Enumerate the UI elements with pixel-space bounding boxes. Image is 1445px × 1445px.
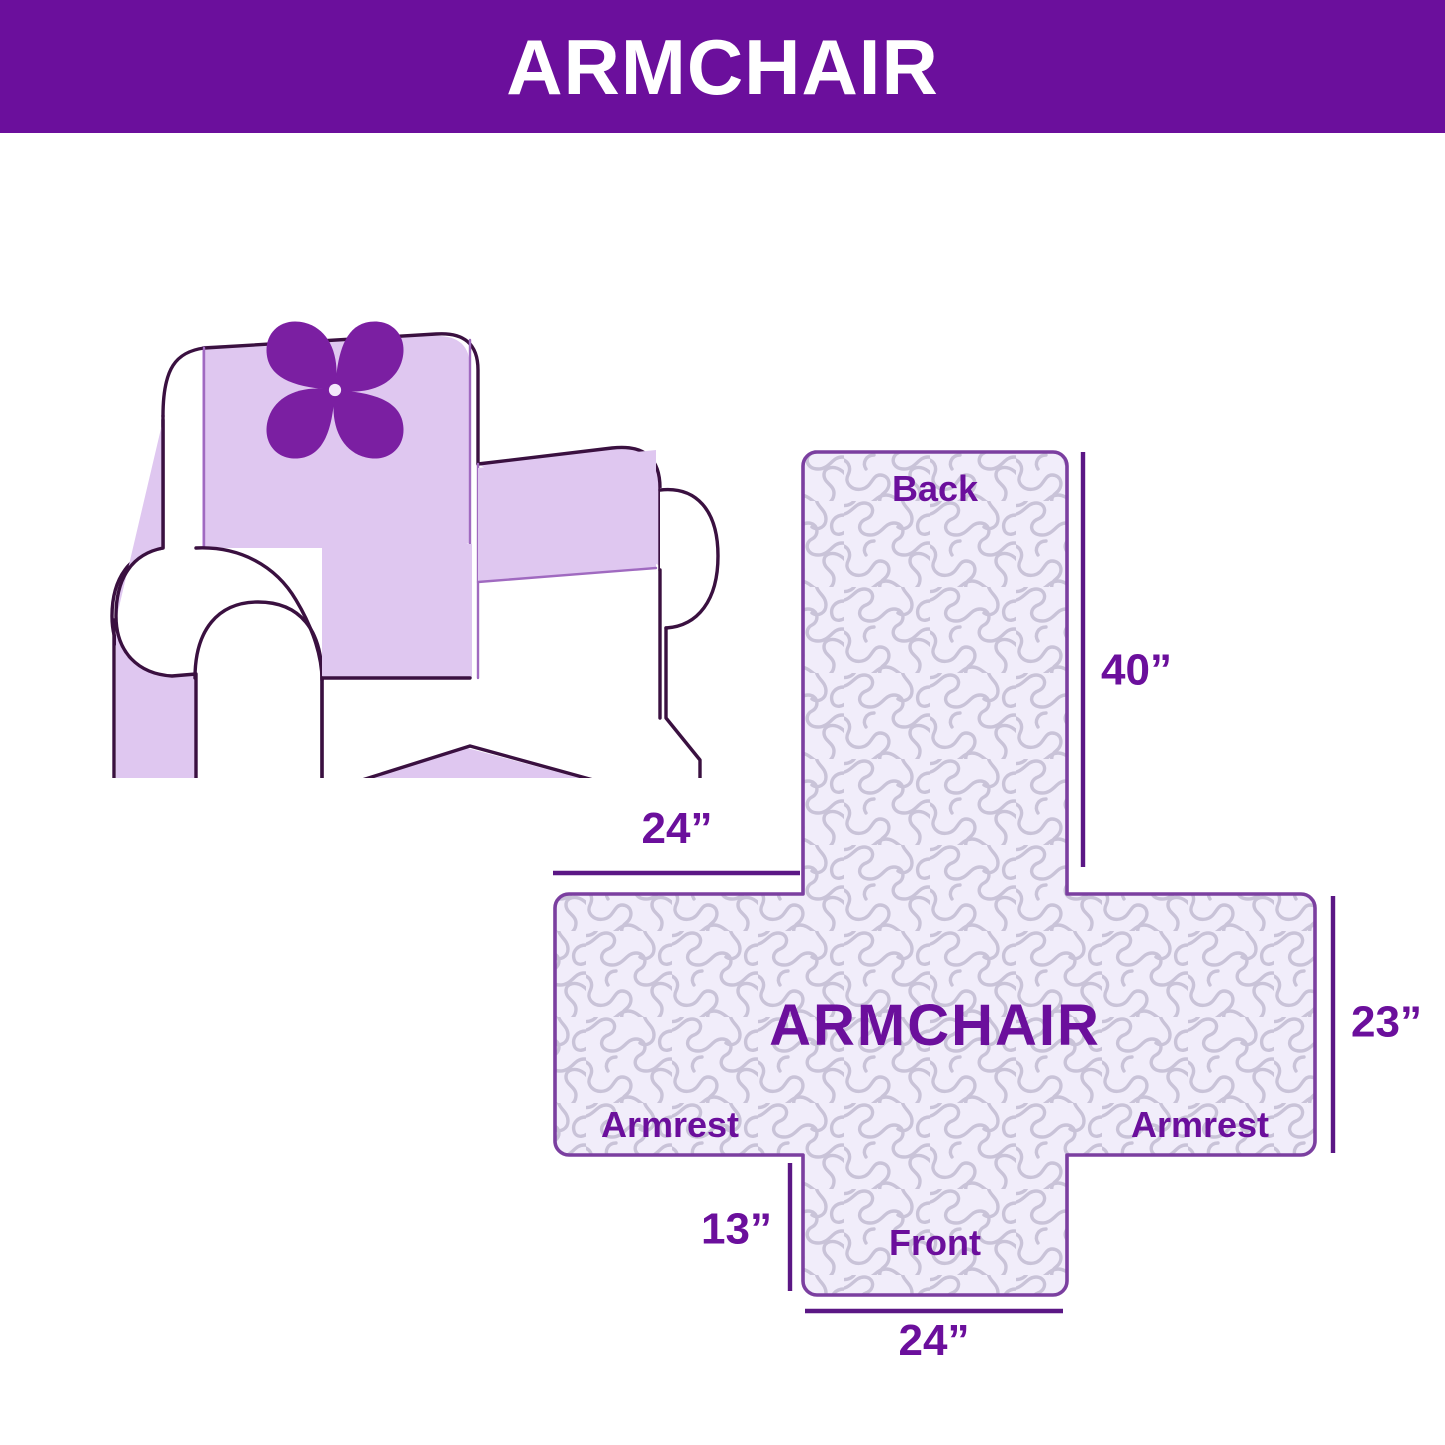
- panel-label-front: Front: [889, 1222, 981, 1263]
- dimension-value-back-width: 24”: [642, 804, 713, 853]
- dimension-value-front-height: 13”: [701, 1205, 772, 1254]
- panel-label-armrest-right: Armrest: [1131, 1104, 1269, 1145]
- page-title: ARMCHAIR: [506, 28, 939, 106]
- header-banner: ARMCHAIR: [0, 0, 1445, 133]
- dimension-value-back-height: 40”: [1101, 646, 1172, 695]
- center-label-armchair: ARMCHAIR: [769, 993, 1101, 1058]
- dimension-value-armrest-depth: 23”: [1351, 998, 1420, 1047]
- panel-label-armrest-left: Armrest: [601, 1104, 739, 1145]
- flat-lay-cross-diagram: Back ARMCHAIR Armrest Armrest Front 40”: [500, 415, 1420, 1375]
- panel-label-back: Back: [892, 468, 979, 509]
- dimension-value-front-width: 24”: [899, 1316, 970, 1365]
- product-dimension-graphic: ARMCHAIR: [0, 0, 1445, 1445]
